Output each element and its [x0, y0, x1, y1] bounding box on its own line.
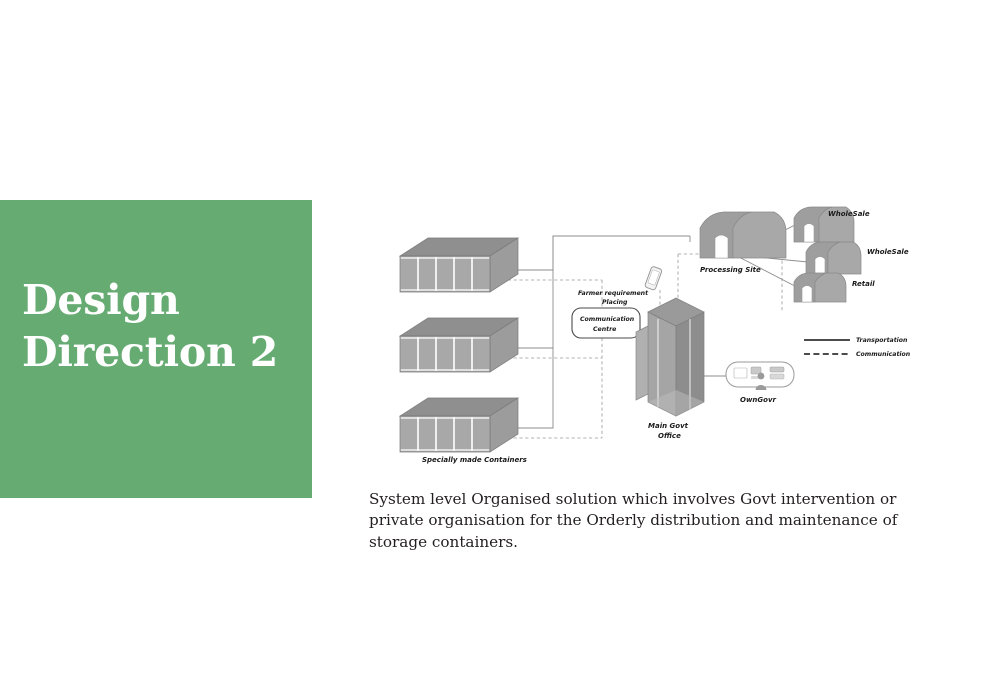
label-communication-centre: Communication: [580, 315, 635, 323]
retail-building: [794, 273, 846, 302]
page-title: Design Direction 2: [22, 274, 307, 379]
own-govr-console: [726, 362, 794, 390]
label-farmer-requirement: Farmer requirement: [578, 289, 649, 297]
label-wholesale-1: WholeSale: [828, 210, 870, 218]
legend-label-communication: Communication: [856, 350, 911, 358]
label-processing-site: Processing Site: [700, 266, 761, 274]
page-title-line-2: Direction 2: [22, 326, 307, 378]
label-farmer-requirement-line2: Placing: [602, 299, 628, 306]
wholesale-2-building: [806, 242, 861, 274]
label-main-govt-office-line2: Office: [658, 432, 681, 440]
label-own-govr: OwnGovr: [740, 396, 777, 404]
container-stack: [400, 238, 518, 452]
main-govt-office-building: [636, 298, 704, 416]
mobile-phone-icon: [644, 266, 662, 290]
slide-caption: System level Organised solution which in…: [369, 489, 917, 553]
container-2: [400, 318, 518, 372]
processing-site-building: [700, 212, 786, 258]
diagram-legend: Transportation Communication: [804, 336, 911, 358]
communication-centre-node: Communication Centre: [572, 308, 640, 338]
label-containers: Specially made Containers: [422, 456, 527, 464]
label-retail: Retail: [852, 280, 875, 288]
label-communication-centre-line2: Centre: [593, 325, 616, 333]
system-diagram: Specially made Containers Farmer require…: [390, 180, 930, 480]
label-main-govt-office: Main Govt: [648, 422, 689, 430]
page-title-line-1: Design: [22, 276, 180, 324]
container-1: [400, 238, 518, 292]
slide-root: Design Direction 2 System level Organise…: [0, 0, 1000, 700]
title-block: Design Direction 2: [0, 200, 312, 498]
label-wholesale-2: WholeSale: [867, 248, 909, 256]
container-3: [400, 398, 518, 452]
legend-label-transportation: Transportation: [856, 336, 908, 344]
